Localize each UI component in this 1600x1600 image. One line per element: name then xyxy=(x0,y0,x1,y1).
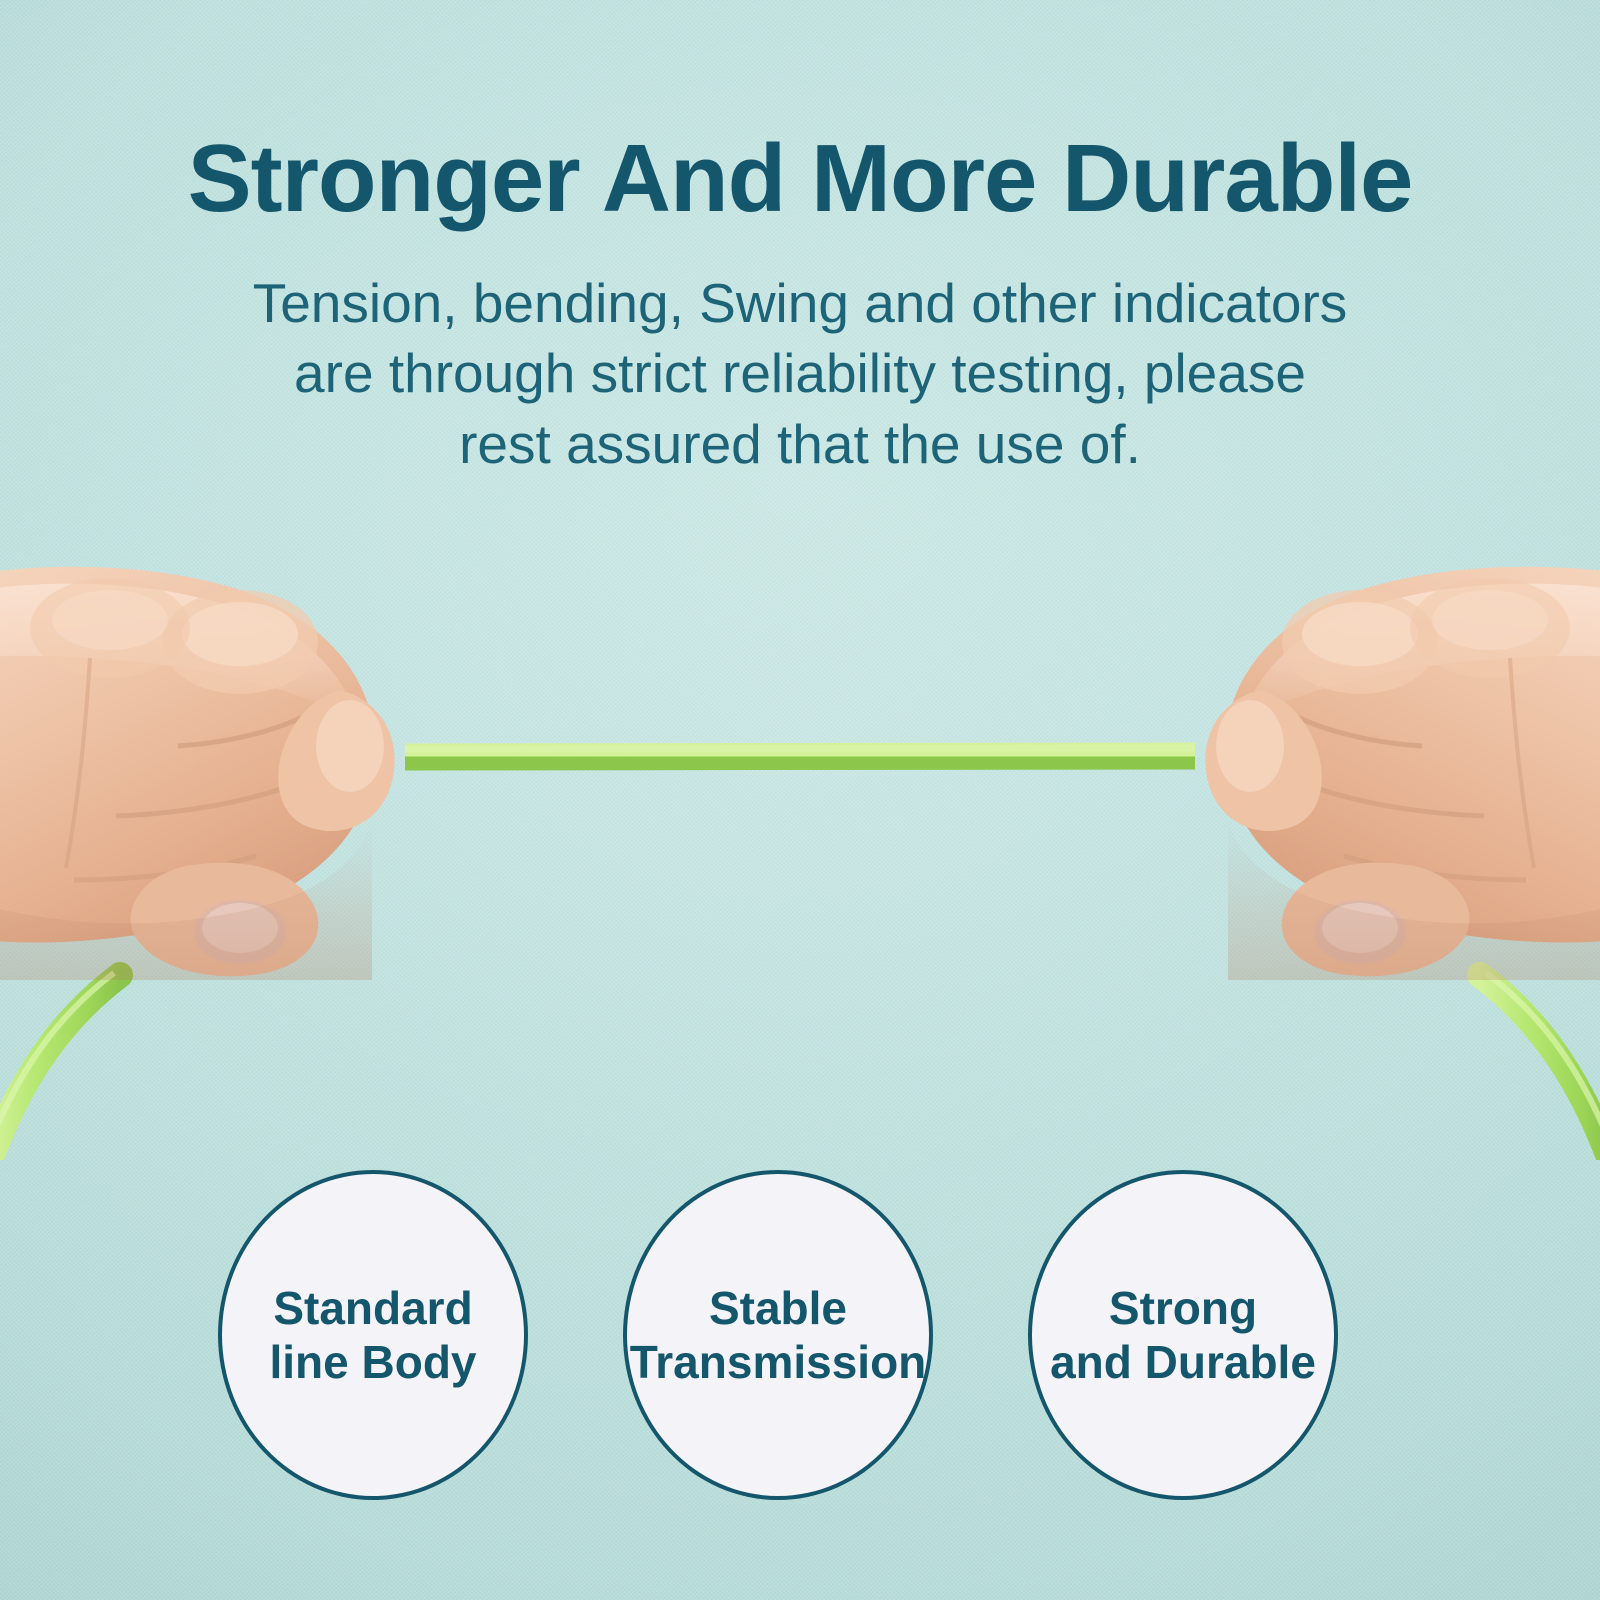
badge-label-line-2: line Body xyxy=(269,1335,476,1389)
page-title: Stronger And More Durable xyxy=(0,128,1600,230)
badge-stable-transmission[interactable]: Stable Transmission xyxy=(623,1170,933,1500)
badge-strong-and-durable[interactable]: Strong and Durable xyxy=(1028,1170,1338,1500)
badge-standard-line-body[interactable]: Standard line Body xyxy=(218,1170,528,1500)
badge-label-line-1: Standard xyxy=(269,1281,476,1335)
badge-label-line-2: and Durable xyxy=(1050,1335,1316,1389)
badge-label-line-2: Transmission xyxy=(630,1335,927,1389)
description-line-1: Tension, bending, Swing and other indica… xyxy=(190,268,1410,338)
description-text: Tension, bending, Swing and other indica… xyxy=(190,268,1410,479)
product-photo xyxy=(0,520,1600,1160)
description-line-3: rest assured that the use of. xyxy=(190,409,1410,479)
badge-label-line-1: Strong xyxy=(1050,1281,1316,1335)
right-fist xyxy=(1140,550,1600,980)
product-feature-poster: Stronger And More Durable Tension, bendi… xyxy=(0,0,1600,1600)
badge-label-line-1: Stable xyxy=(630,1281,927,1335)
feature-badge-row: Standard line Body Stable Transmission S… xyxy=(0,1170,1600,1510)
badge-label: Standard line Body xyxy=(269,1281,476,1390)
left-fist xyxy=(0,550,460,980)
description-line-2: are through strict reliability testing, … xyxy=(190,338,1410,408)
badge-label: Strong and Durable xyxy=(1050,1281,1316,1390)
badge-label: Stable Transmission xyxy=(630,1281,927,1390)
